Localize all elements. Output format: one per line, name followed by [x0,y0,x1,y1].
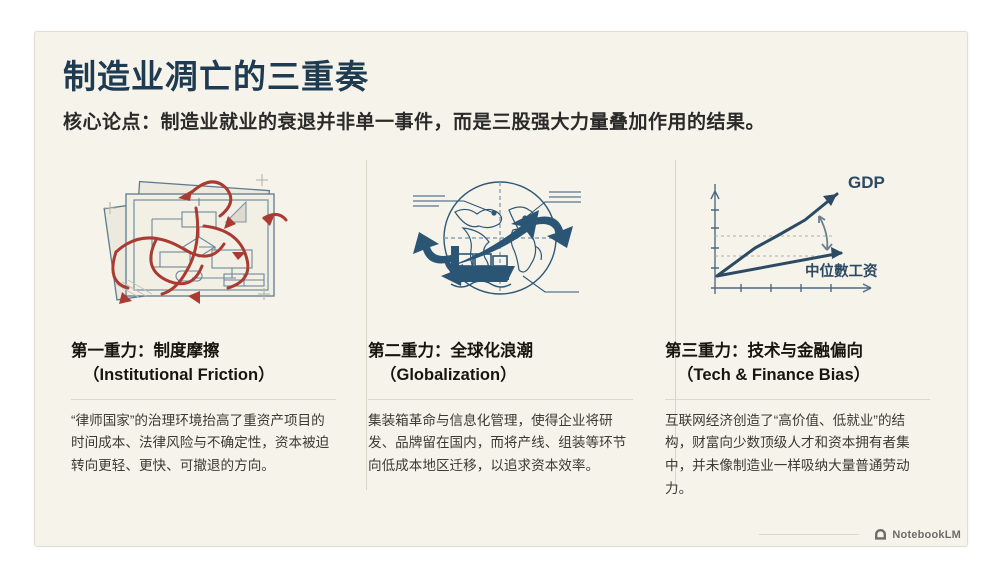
card-rule-1 [71,399,336,400]
chart-label-median-wage: 中位數工资 [805,262,878,280]
illustration-globalization [368,164,633,312]
slide-canvas: 制造业凋亡的三重奏 核心论点：制造业就业的衰退并非单一事件，而是三股强大力量叠加… [34,31,968,547]
globe-with-container-ship-and-arrows-icon [393,166,608,311]
watermark-label: NotebookLM [892,529,961,541]
blueprint-flowchart-with-red-arrows-icon [96,166,311,311]
column-tech-finance-bias: GDP 中位數工资 第三重力：技术与金融偏向 （Tech & Finance B… [649,160,946,520]
card-rule-3 [665,399,930,400]
columns-container: 第一重力：制度摩擦 （Institutional Friction） “律师国家… [55,160,947,520]
card-title-3-cn: 第三重力：技术与金融偏向 [665,342,863,360]
page-subtitle: 核心论点：制造业就业的衰退并非单一事件，而是三股强大力量叠加作用的结果。 [63,107,765,134]
card-body-1: “律师国家”的治理环境抬高了重资产项目的时间成本、法律风险与不确定性，资本被迫转… [71,410,336,478]
notebooklm-logo-icon [874,528,887,541]
card-title-2-en: （Globalization） [368,364,633,388]
chart-label-gdp: GDP [848,173,885,192]
illustration-tech-finance-bias: GDP 中位數工资 [665,164,930,312]
card-title-2-cn: 第二重力：全球化浪潮 [368,342,533,360]
page-title: 制造业凋亡的三重奏 [63,50,369,98]
card-title-1-cn: 第一重力：制度摩擦 [71,342,220,360]
column-institutional-friction: 第一重力：制度摩擦 （Institutional Friction） “律师国家… [55,160,352,520]
card-rule-2 [368,399,633,400]
watermark: NotebookLM [874,528,961,541]
card-body-3: 互联网经济创造了“高价值、低就业”的结构，财富向少数顶级人才和资本拥有者集中，并… [665,410,930,500]
card-title-1-en: （Institutional Friction） [71,364,336,388]
card-title-1: 第一重力：制度摩擦 （Institutional Friction） [71,340,336,388]
column-globalization: 第二重力：全球化浪潮 （Globalization） 集装箱革命与信息化管理，使… [352,160,649,520]
card-body-2: 集装箱革命与信息化管理，使得企业将研发、品牌留在国内，而将产线、组装等环节向低成… [368,410,633,478]
watermark-rule [759,534,859,535]
screenshot-frame: 制造业凋亡的三重奏 核心论点：制造业就业的衰退并非单一事件，而是三股强大力量叠加… [0,0,1000,562]
illustration-institutional-friction [71,164,336,312]
card-title-3: 第三重力：技术与金融偏向 （Tech & Finance Bias） [665,340,930,388]
card-title-2: 第二重力：全球化浪潮 （Globalization） [368,340,633,388]
card-title-3-en: （Tech & Finance Bias） [665,364,930,388]
gdp-vs-median-wage-line-chart-icon: GDP 中位數工资 [685,166,910,311]
